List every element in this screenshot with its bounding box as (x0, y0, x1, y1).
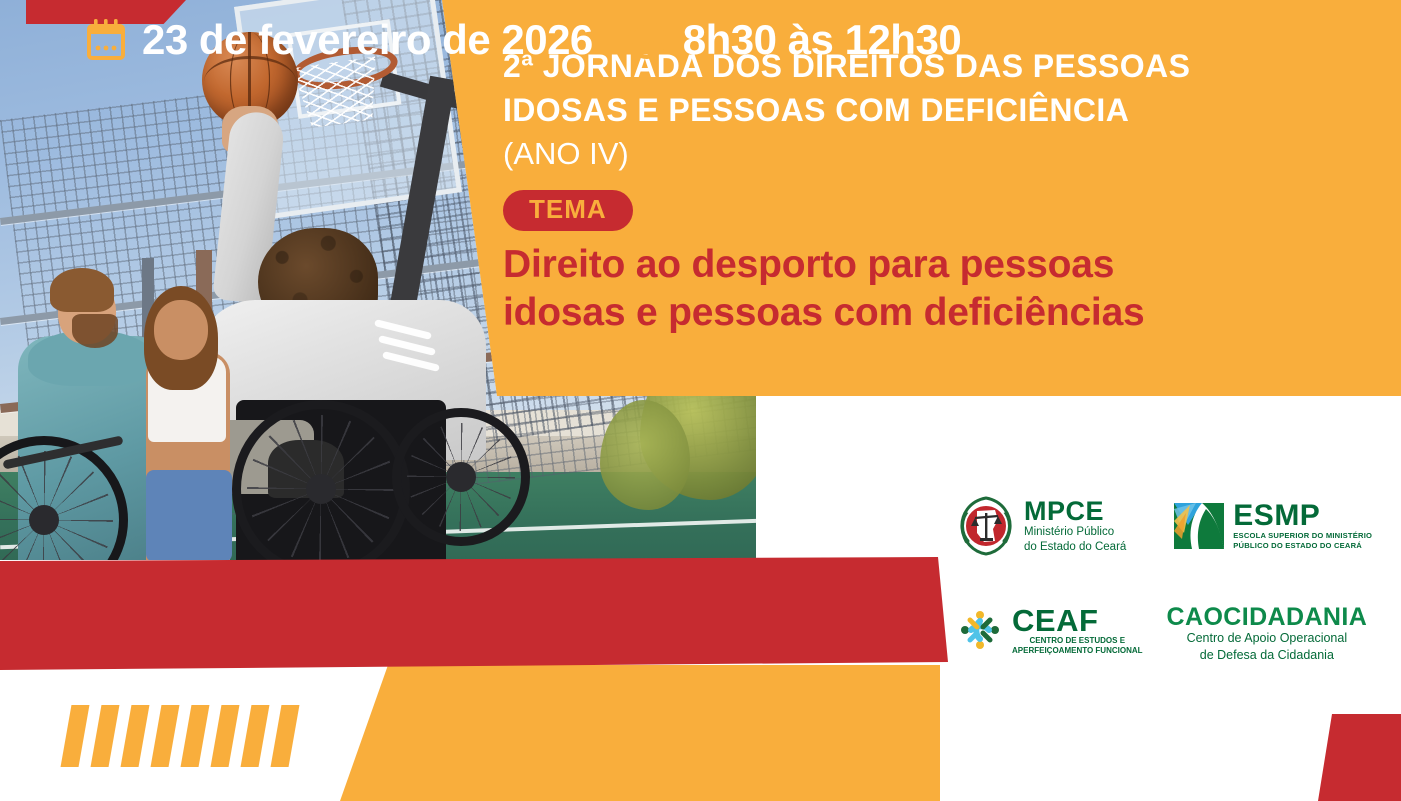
ceaf-people-icon (955, 605, 1005, 655)
mpce-line-1: Ministério Público (1024, 525, 1126, 539)
mpce-line-2: do Estado do Ceará (1024, 540, 1126, 554)
wheel-spokes (407, 423, 515, 531)
theme-line-1: Direito ao desporto para pessoas (503, 243, 1114, 286)
decorative-stripes (66, 705, 326, 767)
wheelchair-wheel (232, 400, 410, 578)
orange-bottom-shape (340, 665, 940, 801)
esmp-line-2: PÚBLICO DO ESTADO DO CEARÁ (1233, 541, 1372, 551)
event-banner: 2ª JORNADA DOS DIREITOS DAS PESSOAS IDOS… (0, 0, 1401, 801)
stripe (241, 705, 270, 767)
stripe (121, 705, 150, 767)
ceaf-acronym: CEAF (1012, 605, 1143, 636)
caocidadania-line-1: Centro de Apoio Operacional (1167, 630, 1368, 647)
man-beard (72, 314, 118, 348)
wheelchair-wheel (392, 408, 530, 546)
logo-caocidadania: CAOCIDADANIA Centro de Apoio Operacional… (1167, 605, 1368, 664)
event-text-block: 2ª JORNADA DOS DIREITOS DAS PESSOAS IDOS… (503, 44, 1373, 336)
logo-ceaf: CEAF CENTRO DE ESTUDOS E APERFEIÇOAMENTO… (955, 605, 1143, 657)
logo-group: MPCE Ministério Público do Estado do Cea… (955, 495, 1375, 664)
event-date: 23 de fevereiro de 2026 (142, 16, 593, 64)
calendar-icon (86, 19, 126, 61)
man-hair (50, 268, 114, 312)
logo-row-top: MPCE Ministério Público do Estado do Cea… (955, 495, 1375, 557)
caocidadania-line-2: de Defesa da Cidadania (1167, 647, 1368, 664)
ceaf-line-1: CENTRO DE ESTUDOS E (1012, 636, 1143, 646)
esmp-text: ESMP ESCOLA SUPERIOR DO MINISTÉRIO PÚBLI… (1233, 501, 1372, 551)
mpce-acronym: MPCE (1024, 498, 1126, 525)
title-line-2: IDOSAS E PESSOAS COM DEFICIÊNCIA (503, 92, 1129, 128)
schedule-time-item: 8h30 às 12h30 (627, 16, 961, 64)
caocidadania-acronym: CAOCIDADANIA (1167, 605, 1368, 630)
schedule-content: 23 de fevereiro de 2026 8h30 às 12h30 (86, 16, 961, 64)
event-subtitle: (ANO IV) (503, 136, 1373, 172)
red-corner-bottom-right (1318, 714, 1401, 801)
esmp-line-1: ESCOLA SUPERIOR DO MINISTÉRIO (1233, 531, 1372, 541)
ceaf-line-2: APERFEIÇOAMENTO FUNCIONAL (1012, 646, 1143, 656)
mpce-seal-icon (955, 495, 1017, 557)
mpce-text: MPCE Ministério Público do Estado do Cea… (1024, 498, 1126, 554)
stripe (211, 705, 240, 767)
logo-row-bottom: CEAF CENTRO DE ESTUDOS E APERFEIÇOAMENTO… (955, 605, 1375, 664)
schedule-bar (0, 557, 950, 670)
tema-badge: TEMA (503, 190, 633, 231)
event-theme: Direito ao desporto para pessoas idosas … (503, 241, 1373, 336)
theme-line-2: idosas e pessoas com deficiências (503, 291, 1145, 334)
esmp-sail-icon (1172, 499, 1226, 553)
stripe (181, 705, 210, 767)
ceaf-text: CEAF CENTRO DE ESTUDOS E APERFEIÇOAMENTO… (1012, 605, 1143, 657)
event-time: 8h30 às 12h30 (683, 16, 961, 64)
clock-icon (627, 20, 667, 60)
logo-mpce: MPCE Ministério Público do Estado do Cea… (955, 495, 1126, 557)
stripe (151, 705, 180, 767)
esmp-acronym: ESMP (1233, 501, 1372, 531)
schedule-date-item: 23 de fevereiro de 2026 (86, 16, 593, 64)
stripe (61, 705, 90, 767)
woman-shorts (146, 470, 232, 562)
stripe (91, 705, 120, 767)
logo-esmp: ESMP ESCOLA SUPERIOR DO MINISTÉRIO PÚBLI… (1172, 499, 1372, 553)
stripe (271, 705, 300, 767)
wheel-spokes (247, 415, 395, 563)
woman-head (154, 300, 208, 360)
